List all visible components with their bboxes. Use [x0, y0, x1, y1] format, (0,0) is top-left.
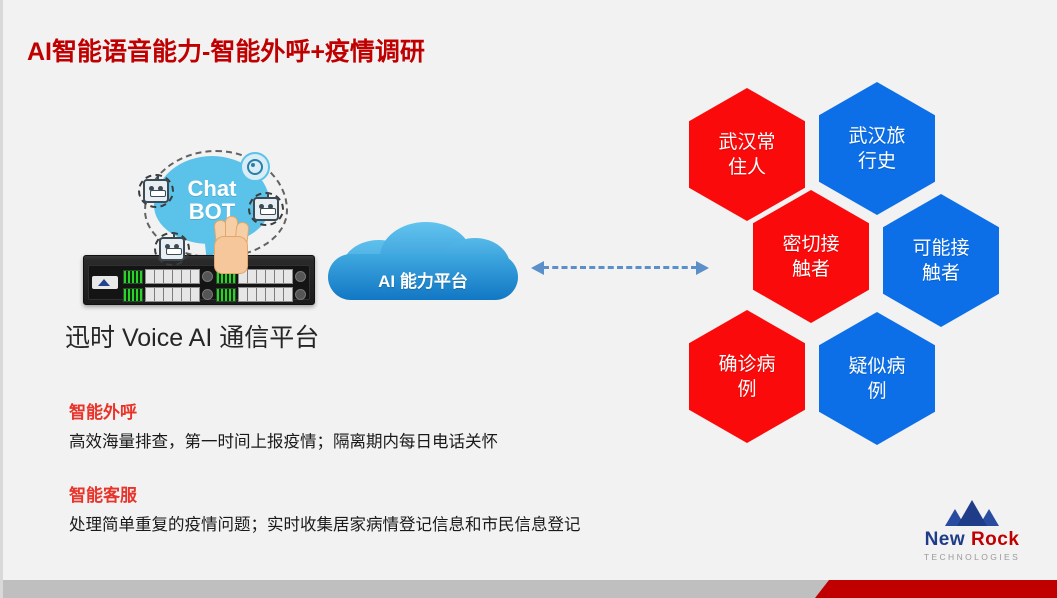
page-title: AI智能语音能力-智能外呼+疫情调研 [27, 32, 425, 68]
logo-word-new: New [925, 529, 966, 550]
logo-word-rock: Rock [971, 529, 1019, 550]
feature-block-service: 智能客服 处理简单重复的疫情问题；实时收集居家病情登记信息和市民信息登记 [69, 481, 581, 535]
feature-heading: 智能外呼 [69, 398, 498, 423]
robot-icon [138, 174, 174, 208]
voice-gateway-device [83, 255, 315, 305]
footer-bar-red [815, 580, 1057, 598]
hexagon-close-contact: 密切接 触者 [753, 190, 869, 323]
company-logo: New Rock TECHNOLOGIES [909, 500, 1035, 562]
robot-icon [154, 232, 190, 266]
hexagon-honeycomb: 武汉常 住人 武汉旅 行史 密切接 触者 可能接 触者 确诊病 [673, 60, 1057, 460]
network-icon [240, 152, 270, 182]
hexagon-line2: 行史 [845, 149, 909, 174]
hexagon-line2: 例 [715, 377, 779, 402]
logo-tagline: TECHNOLOGIES [909, 552, 1035, 562]
hexagon-line1: 武汉旅 [845, 124, 909, 149]
hexagon-line2: 触者 [779, 257, 843, 282]
hexagon-line1: 疑似病 [845, 354, 909, 379]
device-port-block [123, 269, 213, 296]
hexagon-line1: 密切接 [779, 232, 843, 257]
hexagon-line1: 武汉常 [715, 130, 779, 155]
hexagon-possible-contact: 可能接 触者 [883, 194, 999, 327]
device-logo-badge [92, 276, 118, 289]
feature-heading: 智能客服 [69, 481, 581, 506]
cloud-label: AI 能力平台 [328, 267, 518, 292]
hexagon-line2: 触者 [909, 261, 973, 286]
feature-body: 处理简单重复的疫情问题；实时收集居家病情登记信息和市民信息登记 [69, 511, 581, 535]
ai-platform-cloud: AI 能力平台 [328, 222, 518, 300]
hexagon-line1: 确诊病 [715, 352, 779, 377]
hexagon-line1: 可能接 [909, 236, 973, 261]
hexagon-suspected-case: 疑似病 例 [819, 312, 935, 445]
mountain-icon [945, 500, 999, 526]
slide-canvas: AI智能语音能力-智能外呼+疫情调研 Chat BOT [0, 0, 1057, 598]
hand-pointer-icon [212, 216, 248, 272]
feature-body: 高效海量排查，第一时间上报疫情；隔离期内每日电话关怀 [69, 428, 498, 452]
feature-block-outbound: 智能外呼 高效海量排查，第一时间上报疫情；隔离期内每日电话关怀 [69, 398, 498, 452]
footer-bar-gray [3, 580, 833, 598]
hexagon-wuhan-travel-history: 武汉旅 行史 [819, 82, 935, 215]
robot-icon [248, 192, 284, 226]
platform-caption: 迅时 Voice AI 通信平台 [65, 318, 319, 354]
hexagon-line2: 例 [845, 379, 909, 404]
hexagon-wuhan-resident: 武汉常 住人 [689, 88, 805, 221]
hexagon-line2: 住人 [715, 155, 779, 180]
logo-wordmark: New Rock [909, 529, 1035, 551]
hexagon-confirmed-case: 确诊病 例 [689, 310, 805, 443]
